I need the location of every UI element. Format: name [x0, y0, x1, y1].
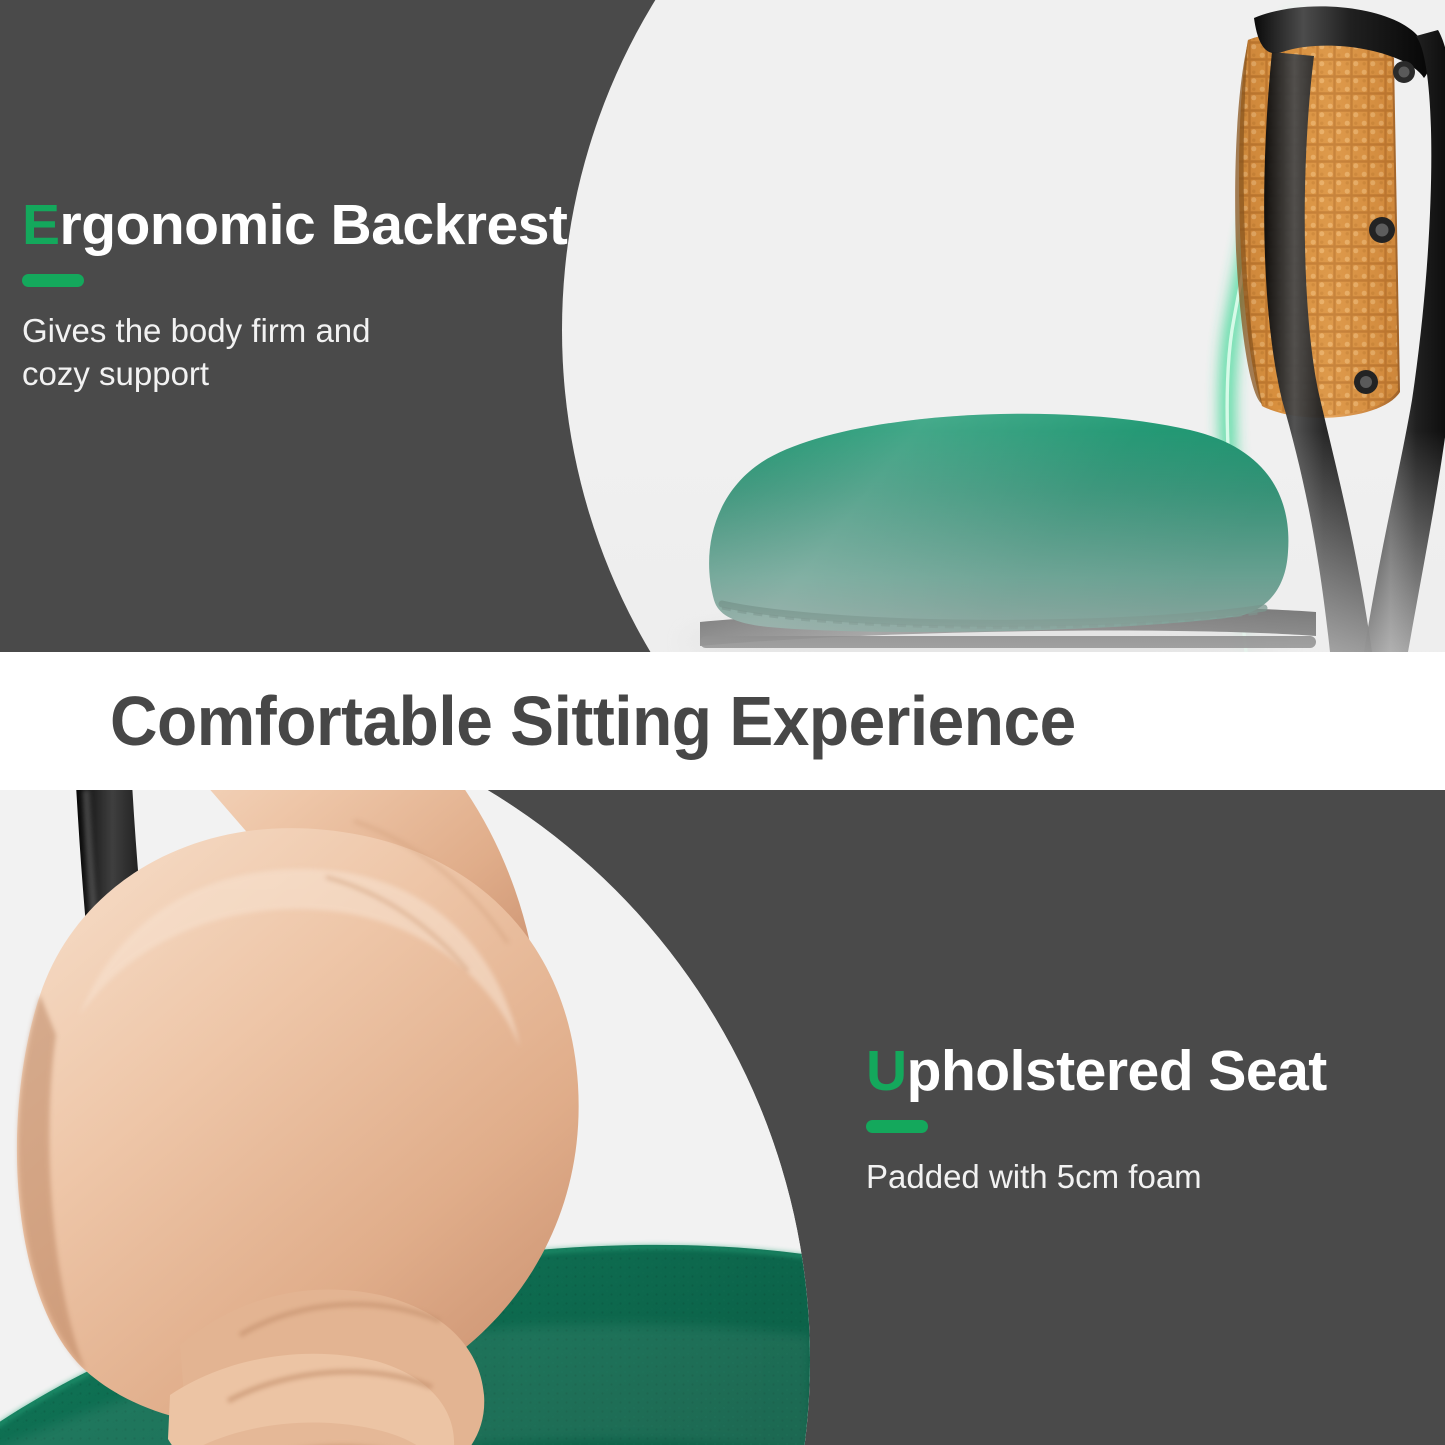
seat-title-rest: pholstered Seat	[907, 1039, 1327, 1103]
backrest-product-photo	[562, 0, 1445, 652]
seat-accent-rule	[866, 1120, 928, 1133]
seat-subtitle-line1: Padded with 5cm foam	[866, 1155, 1327, 1199]
feature-text-seat: Upholstered Seat Padded with 5cm foam	[866, 1042, 1327, 1198]
banner-headline: Comfortable Sitting Experience	[110, 681, 1076, 761]
backrest-title: Ergonomic Backrest	[22, 196, 567, 256]
seat-title-capital: U	[866, 1039, 907, 1103]
feature-panel-seat: Upholstered Seat Padded with 5cm foam	[0, 790, 1445, 1445]
backrest-subtitle: Gives the body firm and cozy support	[22, 309, 567, 396]
seat-foam-demo-photo	[0, 790, 810, 1445]
backrest-title-rest: rgonomic Backrest	[60, 193, 568, 257]
product-infographic: Ergonomic Backrest Gives the body firm a…	[0, 0, 1445, 1445]
feature-text-backrest: Ergonomic Backrest Gives the body firm a…	[22, 196, 567, 396]
chair-side-view-illustration	[562, 0, 1445, 652]
backrest-subtitle-line1: Gives the body firm and	[22, 309, 567, 353]
backrest-subtitle-line2: cozy support	[22, 352, 567, 396]
fist-pressing-seat-illustration	[0, 790, 810, 1445]
feature-panel-backrest: Ergonomic Backrest Gives the body firm a…	[0, 0, 1445, 652]
headline-banner: Comfortable Sitting Experience	[0, 652, 1445, 790]
backrest-title-capital: E	[22, 193, 60, 257]
seat-title: Upholstered Seat	[866, 1042, 1327, 1102]
seat-subtitle: Padded with 5cm foam	[866, 1155, 1327, 1199]
backrest-accent-rule	[22, 274, 84, 287]
green-seat-cushion	[709, 414, 1288, 632]
